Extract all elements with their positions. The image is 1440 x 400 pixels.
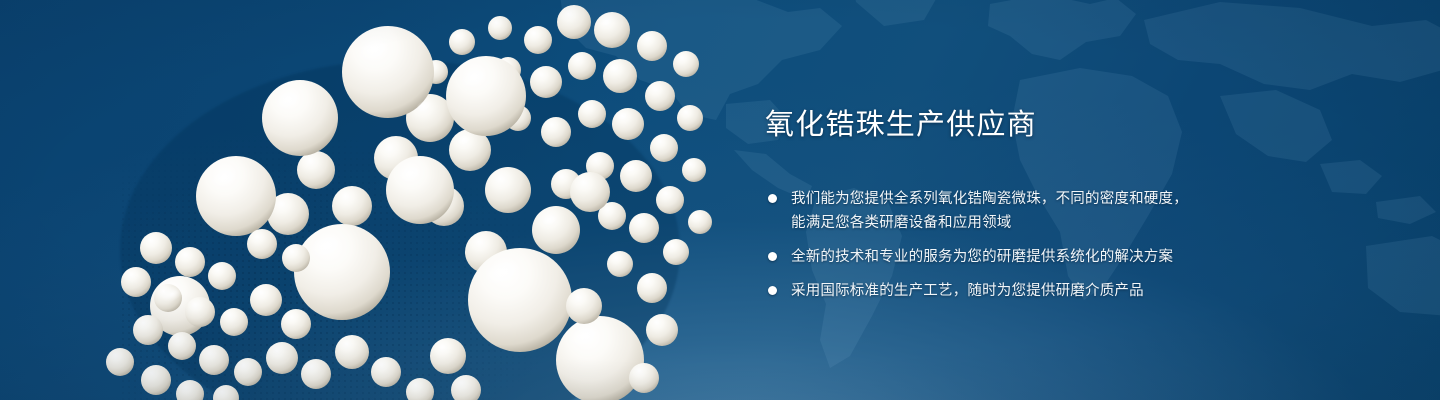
list-item: 全新的技术和专业的服务为您的研磨提供系统化的解决方案 — [765, 245, 1215, 269]
bullet-dot-icon — [768, 286, 777, 295]
bullet-dot-icon — [768, 252, 777, 261]
list-item-line: 采用国际标准的生产工艺，随时为您提供研磨介质产品 — [791, 279, 1215, 303]
list-item: 采用国际标准的生产工艺，随时为您提供研磨介质产品 — [765, 279, 1215, 303]
list-item: 我们能为您提供全系列氧化锆陶瓷微珠，不同的密度和硬度， 能满足您各类研磨设备和应… — [765, 187, 1215, 235]
bullet-dot-icon — [768, 194, 777, 203]
list-item-line: 能满足您各类研磨设备和应用领域 — [791, 211, 1215, 235]
background-vignette — [0, 0, 1440, 400]
banner-copy: 氧化锆珠生产供应商 我们能为您提供全系列氧化锆陶瓷微珠，不同的密度和硬度， 能满… — [765, 108, 1215, 303]
list-item-line: 我们能为您提供全系列氧化锆陶瓷微珠，不同的密度和硬度， — [791, 187, 1215, 211]
page-title: 氧化锆珠生产供应商 — [765, 108, 1215, 143]
feature-list: 我们能为您提供全系列氧化锆陶瓷微珠，不同的密度和硬度， 能满足您各类研磨设备和应… — [765, 187, 1215, 303]
hero-banner: 氧化锆珠生产供应商 我们能为您提供全系列氧化锆陶瓷微珠，不同的密度和硬度， 能满… — [0, 0, 1440, 400]
list-item-line: 全新的技术和专业的服务为您的研磨提供系统化的解决方案 — [791, 245, 1215, 269]
